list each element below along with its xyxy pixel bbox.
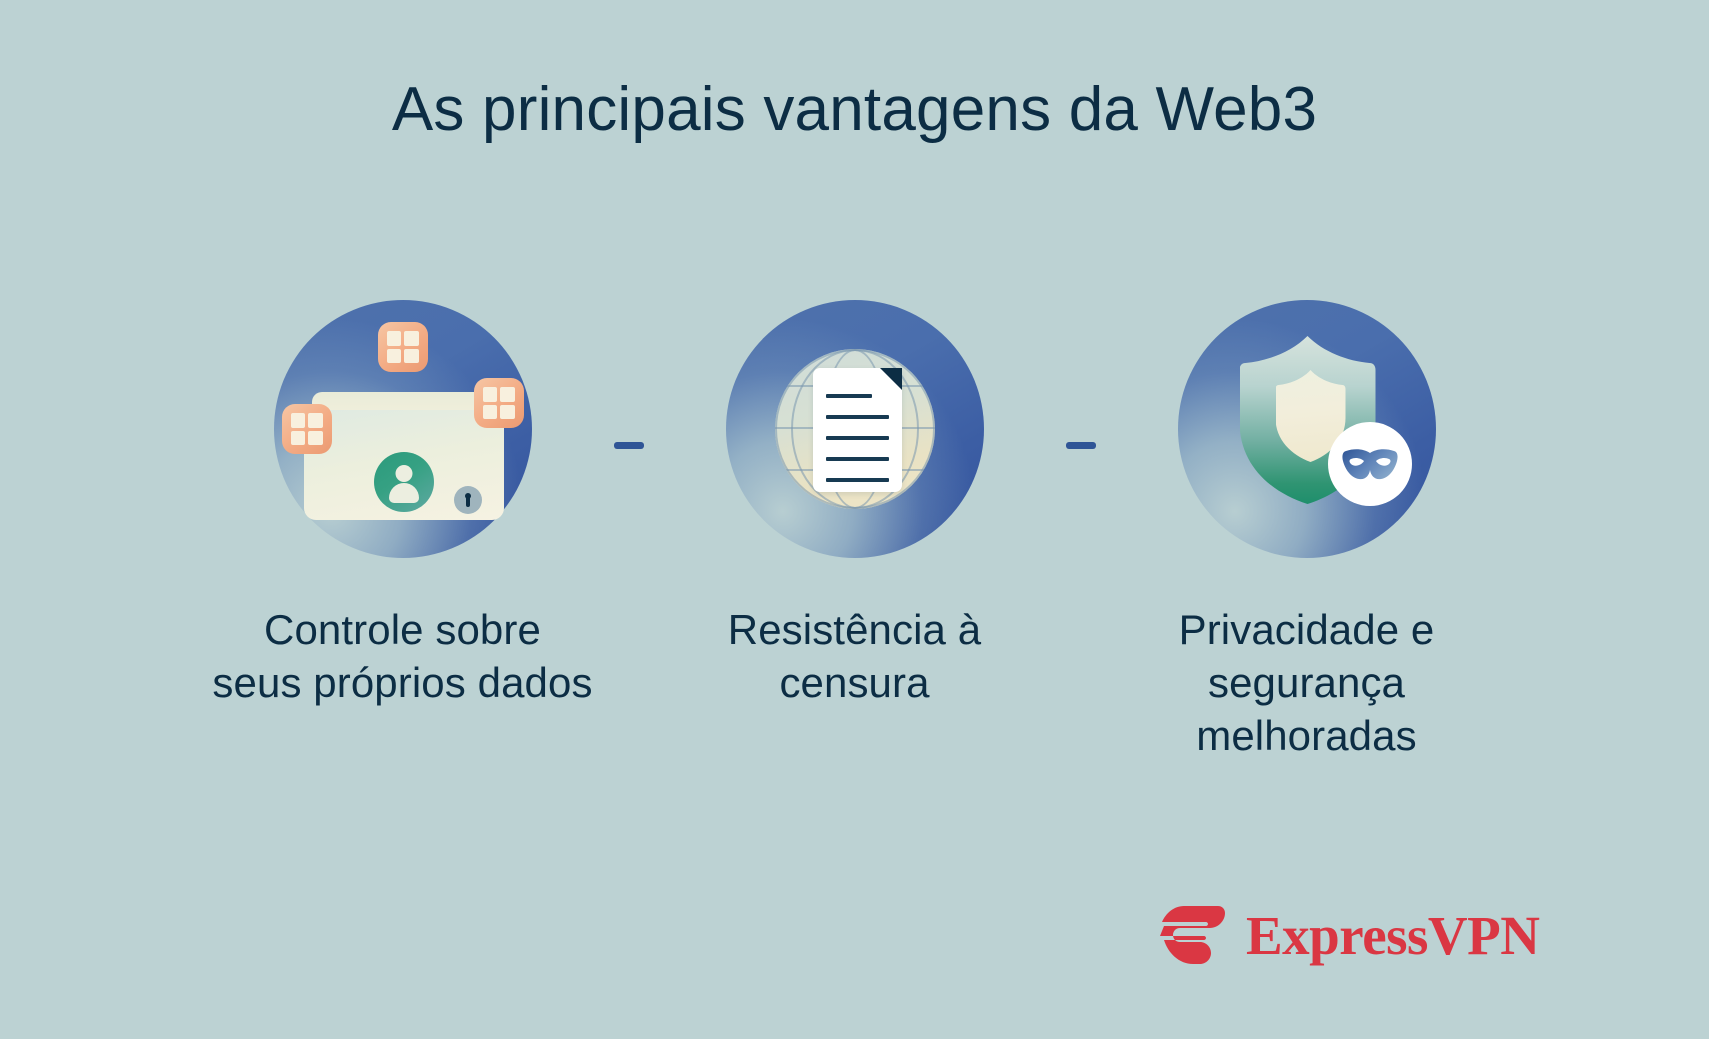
expressvpn-wordmark: ExpressVPN xyxy=(1246,908,1539,963)
lock-keystem xyxy=(466,497,470,507)
dash-icon xyxy=(614,442,644,449)
separator-1 xyxy=(598,300,660,590)
avatar-head xyxy=(395,465,412,482)
document-fold-corner xyxy=(880,368,902,390)
mask-icon xyxy=(1342,448,1398,480)
expressvpn-logo: ExpressVPN xyxy=(1160,903,1539,967)
lock-icon xyxy=(454,486,482,514)
benefit-card-privacy: Privacidade e segurança melhoradas xyxy=(1112,300,1502,763)
document-text-line xyxy=(826,457,889,461)
document-text-line xyxy=(826,394,872,398)
separator-2 xyxy=(1050,300,1112,590)
shield-mask-icon xyxy=(1178,300,1436,558)
page-title: As principais vantagens da Web3 xyxy=(0,76,1709,144)
benefit-card-data-control: Controle sobre seus próprios dados xyxy=(208,300,598,710)
globe-document-icon xyxy=(726,300,984,558)
document-text-line xyxy=(826,436,889,440)
expressvpn-e-logo xyxy=(1160,903,1232,967)
app-tile-icon-right xyxy=(474,378,524,428)
app-tile-icon-top xyxy=(378,322,428,372)
avatar-body xyxy=(389,483,419,503)
benefit-label: Controle sobre seus próprios dados xyxy=(212,604,592,710)
benefits-row: Controle sobre seus próprios dados xyxy=(0,300,1709,763)
tile-grid xyxy=(387,331,419,363)
benefit-card-censorship: Resistência à censura xyxy=(660,300,1050,710)
dash-icon xyxy=(1066,442,1096,449)
document-text-line xyxy=(826,478,889,482)
anonymity-mask-badge xyxy=(1328,422,1412,506)
wallet-body xyxy=(304,410,504,520)
document-icon xyxy=(813,368,902,492)
tile-grid xyxy=(483,387,515,419)
document-text-line xyxy=(826,415,889,419)
benefit-label: Resistência à censura xyxy=(728,604,981,710)
user-avatar-icon xyxy=(374,452,434,512)
data-wallet-icon xyxy=(274,300,532,558)
app-tile-icon-left xyxy=(282,404,332,454)
benefit-label: Privacidade e segurança melhoradas xyxy=(1179,604,1435,763)
tile-grid xyxy=(291,413,323,445)
infographic-canvas: As principais vantagens da Web3 xyxy=(0,0,1709,1039)
